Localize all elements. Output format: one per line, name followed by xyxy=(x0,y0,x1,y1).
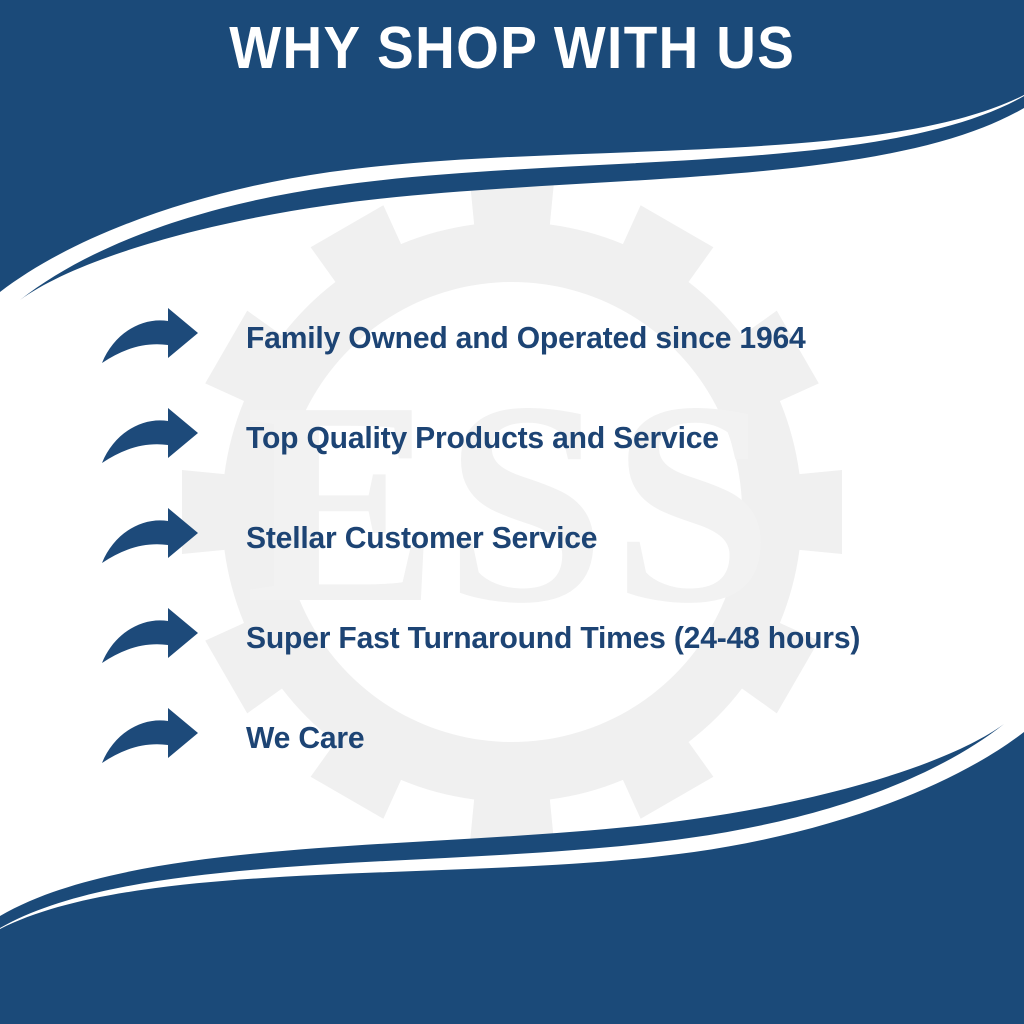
list-item-label: Family Owned and Operated since 1964 xyxy=(246,321,939,355)
list-item: Top Quality Products and Service xyxy=(100,388,960,488)
list-item: Family Owned and Operated since 1964 xyxy=(100,288,960,388)
curved-arrow-icon xyxy=(100,607,200,669)
curved-arrow-icon xyxy=(100,407,200,469)
list-item-label: Super Fast Turnaround Times (24-48 hours… xyxy=(246,621,939,655)
list-item: Super Fast Turnaround Times (24-48 hours… xyxy=(100,588,960,688)
benefits-list: Family Owned and Operated since 1964 Top… xyxy=(100,288,960,788)
why-shop-with-us-poster: ESS WHY SHOP WITH US Family Owned and Op… xyxy=(0,0,1024,1024)
curved-arrow-icon xyxy=(100,307,200,369)
curved-arrow-icon xyxy=(100,707,200,769)
list-item: We Care xyxy=(100,688,960,788)
list-item-label: Stellar Customer Service xyxy=(246,521,939,555)
list-item-label: We Care xyxy=(246,721,939,755)
curved-arrow-icon xyxy=(100,507,200,569)
list-item: Stellar Customer Service xyxy=(100,488,960,588)
list-item-label: Top Quality Products and Service xyxy=(246,421,939,455)
